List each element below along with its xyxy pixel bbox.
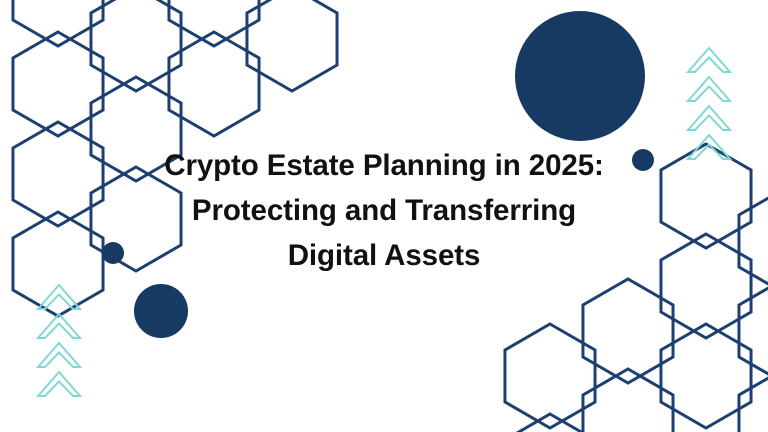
title-block: Crypto Estate Planning in 2025: Protecti… [112,143,656,278]
banner-graphic: Crypto Estate Planning in 2025: Protecti… [0,0,768,432]
chevron-up-outline-icon [688,106,730,130]
chevron-up-outline-icon [38,343,80,367]
hexagon-outline-icon [739,189,768,293]
chevron-up-outline-icon [688,77,730,101]
chevron-up-outline-icon [38,314,80,338]
hexagon-outline-icon [739,369,768,432]
hexagon-outline-icon [739,279,768,383]
chevron-up-outline-icon [688,48,730,72]
page-title: Crypto Estate Planning in 2025: Protecti… [112,143,656,278]
chevron-up-outline-icon [38,372,80,396]
medium-circle-left [134,284,188,338]
large-circle-top-right [515,11,645,141]
